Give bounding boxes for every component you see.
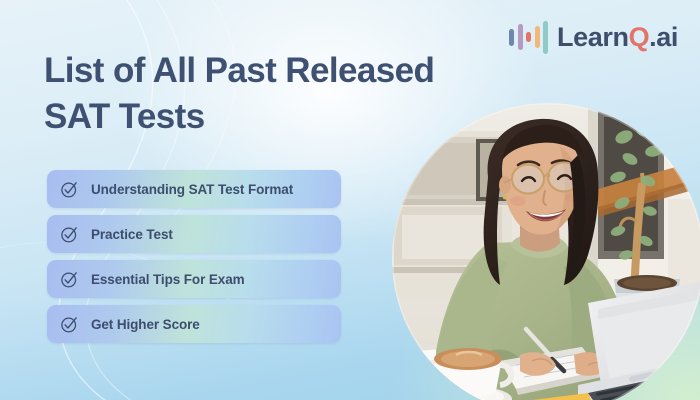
feature-item-practice-test[interactable]: Practice Test (47, 215, 341, 253)
feature-item-label: Get Higher Score (91, 317, 200, 332)
waveform-bar-5 (543, 21, 548, 54)
feature-list: Understanding SAT Test Format Practice T… (47, 170, 341, 350)
waveform-bar-4 (535, 26, 540, 48)
sat-tests-banner: LearnQ.ai List of All Past Released SAT … (0, 0, 700, 400)
brand-name-tail: .ai (649, 22, 678, 52)
brand-name-main: Learn (557, 22, 629, 52)
circle-check-icon (60, 315, 79, 334)
circle-check-icon (60, 270, 79, 289)
waveform-bar-1 (509, 29, 514, 46)
feature-item-essential-tips-for-exam[interactable]: Essential Tips For Exam (47, 260, 341, 298)
brand-logo[interactable]: LearnQ.ai (509, 20, 678, 54)
brand-name: LearnQ.ai (557, 24, 678, 51)
waveform-bar-3 (526, 32, 531, 42)
feature-item-understanding-sat-test-format[interactable]: Understanding SAT Test Format (47, 170, 341, 208)
circle-check-icon (60, 180, 79, 199)
feature-item-get-higher-score[interactable]: Get Higher Score (47, 305, 341, 343)
audio-waveform-bars-icon (509, 20, 548, 54)
feature-item-label: Practice Test (91, 227, 173, 242)
brand-name-accent: Q (629, 22, 650, 52)
student-photo-illustration (392, 103, 700, 400)
feature-item-label: Essential Tips For Exam (91, 272, 245, 287)
circle-check-icon (60, 225, 79, 244)
page-title: List of All Past Released SAT Tests (44, 48, 464, 139)
student-photo (392, 103, 700, 400)
waveform-bar-2 (518, 24, 523, 50)
feature-item-label: Understanding SAT Test Format (91, 182, 293, 197)
